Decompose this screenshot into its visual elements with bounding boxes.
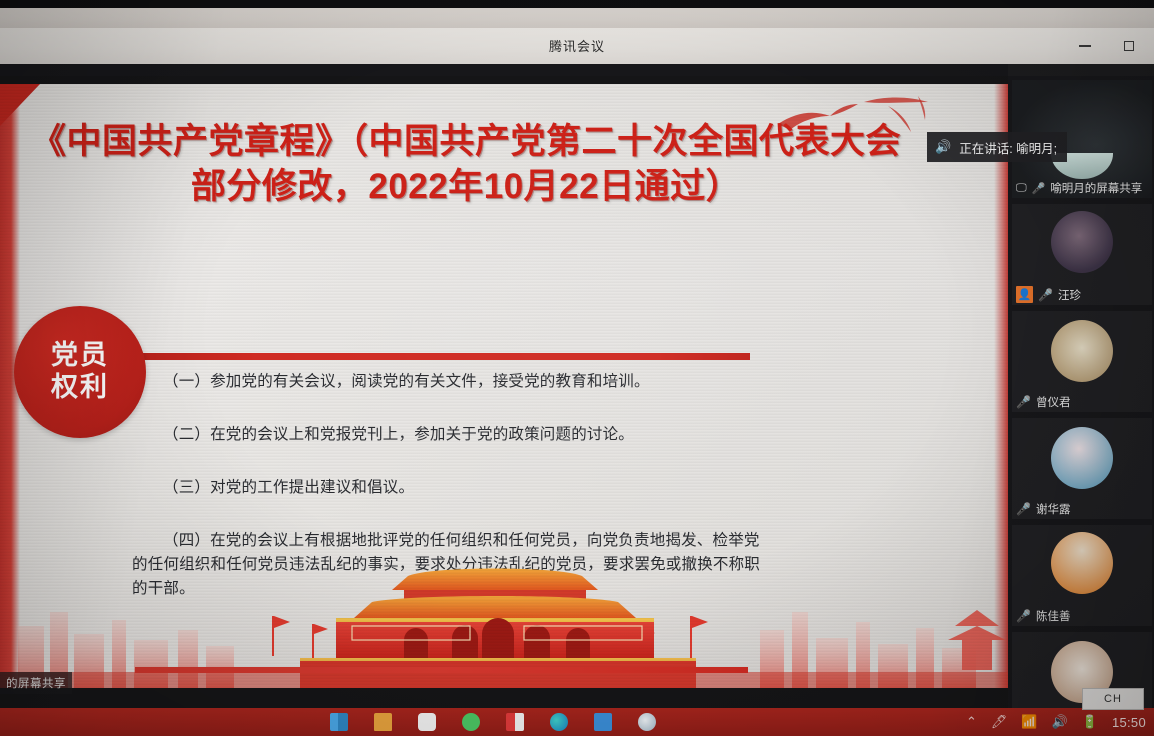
avatar (1051, 320, 1113, 382)
speaking-toast: 🔊 正在讲话: 喻明月; (927, 132, 1067, 162)
meeting-toolbar-strip (0, 64, 1008, 76)
participant-namebar: 🎤 陈佳善 (1012, 608, 1074, 624)
taskbar-clock[interactable]: 15:50 (1112, 715, 1146, 730)
participant-name: 喻明月的屏幕共享 (1050, 180, 1142, 196)
participant-namebar: 🎤 曾仪君 (1012, 394, 1074, 410)
ime-indicator-label: CH (1104, 693, 1122, 705)
participant-rail[interactable]: 🖵 🎤 喻明月的屏幕共享 👤 🎤 汪珍 🎤 曾仪君 (1008, 76, 1154, 716)
top-divider-rule (130, 353, 750, 360)
section-badge-line1: 党员 (51, 340, 109, 372)
battery-icon[interactable]: 🔋 (1082, 714, 1098, 730)
participant-name: 汪珍 (1058, 287, 1081, 303)
participant-name: 陈佳善 (1036, 608, 1071, 624)
slide-paragraph: （二）在党的会议上和党报党刊上，参加关于党的政策问题的讨论。 (132, 423, 772, 447)
pen-icon[interactable]: 🖊 (991, 714, 1008, 730)
participant-tile-chenjiashan[interactable]: 🎤 陈佳善 (1012, 525, 1152, 626)
participant-tile-xiehualu[interactable]: 🎤 谢华露 (1012, 418, 1152, 519)
avatar (1051, 532, 1113, 594)
taskbar-spacer (0, 708, 330, 736)
slide-paragraph: （三）对党的工作提出建议和倡议。 (132, 476, 772, 500)
participant-namebar: 🎤 谢华露 (1012, 501, 1074, 517)
system-tray[interactable]: ⌃ 🖊 📶 🔊 🔋 15:50 (966, 714, 1154, 730)
browser-icon[interactable] (638, 713, 656, 731)
bottom-divider-rule (135, 667, 748, 673)
tencent-meeting-window: 腾讯会议 《中国共产党章程》（中国共产 (0, 28, 1154, 708)
section-badge-line2: 权利 (51, 372, 109, 404)
edge-icon[interactable] (550, 713, 568, 731)
show-hidden-icons-icon[interactable]: ⌃ (966, 714, 977, 730)
mic-muted-icon: 🎤 (1038, 288, 1053, 302)
window-title: 腾讯会议 (549, 36, 605, 55)
monitor-icon: 🖵 (1016, 182, 1027, 195)
window-titlebar[interactable]: 腾讯会议 (0, 28, 1154, 64)
mic-muted-icon: 🎤 (1016, 502, 1031, 516)
avatar (1051, 211, 1113, 273)
maximize-button[interactable] (1108, 31, 1150, 61)
host-badge-icon: 👤 (1016, 286, 1033, 303)
mic-muted-icon: 🎤 (1016, 609, 1031, 623)
participant-name: 谢华露 (1036, 501, 1071, 517)
participant-tile-zengyijun[interactable]: 🎤 曾仪君 (1012, 311, 1152, 412)
slide-title: 《中国共产党章程》（中国共产党第二十次全国代表大会部分修改，2022年10月22… (16, 120, 916, 210)
participant-tile-wangzhen[interactable]: 👤 🎤 汪珍 (1012, 204, 1152, 305)
window-controls (1064, 28, 1150, 64)
volume-icon[interactable]: 🔊 (1052, 714, 1068, 730)
windows-taskbar[interactable]: ⌃ 🖊 📶 🔊 🔋 15:50 (0, 708, 1154, 736)
participant-name: 曾仪君 (1036, 394, 1071, 410)
avatar (1051, 427, 1113, 489)
photos-icon[interactable] (594, 713, 612, 731)
task-view-icon[interactable] (330, 713, 348, 731)
speaking-toast-label: 正在讲话: 喻明月; (959, 138, 1057, 157)
ime-indicator[interactable]: CH (1082, 688, 1144, 710)
speaker-icon: 🔊 (935, 139, 951, 155)
participant-namebar: 👤 🎤 汪珍 (1012, 286, 1085, 303)
wechat-icon[interactable] (462, 713, 480, 731)
wifi-icon[interactable]: 📶 (1021, 714, 1037, 730)
slide-paragraph: （一）参加党的有关会议，阅读党的有关文件，接受党的教育和培训。 (132, 370, 772, 394)
file-explorer-icon[interactable] (374, 713, 392, 731)
section-badge: 党员 权利 (14, 306, 146, 438)
slide-body: （一）参加党的有关会议，阅读党的有关文件，接受党的教育和培训。 （二）在党的会议… (132, 370, 772, 601)
presentation-slide: 《中国共产党章程》（中国共产党第二十次全国代表大会部分修改，2022年10月22… (0, 84, 1008, 688)
participant-namebar: 🖵 🎤 喻明月的屏幕共享 (1012, 180, 1146, 196)
bilibili-icon[interactable] (418, 713, 436, 731)
monitor-bezel-edge (0, 0, 1154, 8)
shared-screen-region[interactable]: 《中国共产党章程》（中国共产党第二十次全国代表大会部分修改，2022年10月22… (0, 76, 1008, 716)
screen-share-overlay-label: 的屏幕共享 (0, 672, 72, 694)
minimize-button[interactable] (1064, 31, 1106, 61)
screen-photo: 腾讯会议 《中国共产党章程》（中国共产 (0, 0, 1154, 736)
mic-icon: 🎤 (1032, 182, 1046, 195)
mic-muted-icon: 🎤 (1016, 395, 1031, 409)
taskbar-app-icons[interactable] (330, 713, 656, 731)
zhiyun-icon[interactable] (506, 713, 524, 731)
